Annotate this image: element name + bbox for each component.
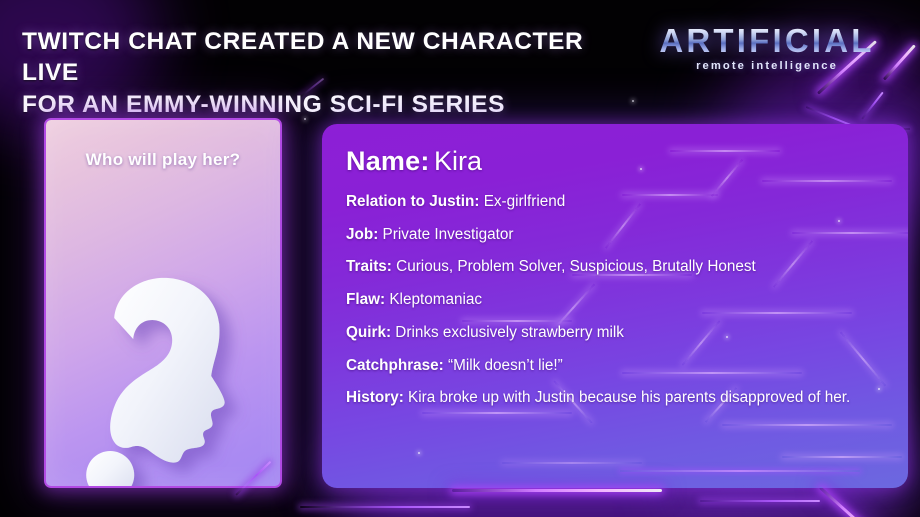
neon-streak (300, 506, 470, 508)
brand-logo: ARTIFICIAL remote intelligence (632, 24, 902, 72)
circuit-line (782, 456, 902, 458)
circuit-line (502, 462, 642, 464)
field-flaw-label: Flaw: (346, 291, 385, 308)
character-info-card: Name: Kira Relation to Justin: Ex-girlfr… (322, 124, 908, 488)
portrait-question: Who will play her? (46, 150, 280, 170)
field-flaw-value: Kleptomaniac (389, 291, 482, 308)
logo-tagline: remote intelligence (632, 60, 902, 72)
field-quirk: Quirk: Drinks exclusively strawberry mil… (346, 322, 888, 344)
field-relation-label: Relation to Justin: (346, 193, 479, 210)
slide-canvas: TWITCH CHAT CREATED A NEW CHARACTER LIVE… (0, 0, 920, 517)
field-job: Job: Private Investigator (346, 224, 888, 246)
field-relation: Relation to Justin: Ex-girlfriend (346, 191, 888, 213)
field-history: History: Kira broke up with Justin becau… (346, 387, 888, 409)
sparkle-dot (418, 452, 420, 454)
neon-streak (452, 489, 662, 492)
question-mark-face-icon (64, 272, 254, 488)
circuit-line (422, 412, 572, 414)
field-name-value: Kira (434, 146, 482, 176)
headline: TWITCH CHAT CREATED A NEW CHARACTER LIVE… (22, 26, 642, 120)
portrait-card: Who will play her? (44, 118, 282, 488)
field-history-value: Kira broke up with Justin because his pa… (408, 389, 850, 406)
field-quirk-label: Quirk: (346, 324, 391, 341)
character-fields: Name: Kira Relation to Justin: Ex-girlfr… (346, 146, 888, 409)
field-catchphrase-value: “Milk doesn’t lie!” (448, 357, 563, 374)
headline-line-2: FOR AN EMMY-WINNING SCI-FI SERIES (22, 89, 642, 120)
field-relation-value: Ex-girlfriend (484, 193, 566, 210)
field-job-value: Private Investigator (383, 226, 514, 243)
headline-line-1: TWITCH CHAT CREATED A NEW CHARACTER LIVE (22, 26, 642, 89)
field-quirk-value: Drinks exclusively strawberry milk (395, 324, 624, 341)
field-name: Name: Kira (346, 146, 888, 177)
field-flaw: Flaw: Kleptomaniac (346, 289, 888, 311)
field-name-label: Name: (346, 146, 430, 176)
neon-streak (700, 500, 820, 502)
field-traits: Traits: Curious, Problem Solver, Suspici… (346, 256, 888, 278)
field-catchphrase: Catchphrase: “Milk doesn’t lie!” (346, 355, 888, 377)
field-job-label: Job: (346, 226, 378, 243)
field-traits-label: Traits: (346, 258, 392, 275)
field-history-label: History: (346, 389, 404, 406)
field-traits-value: Curious, Problem Solver, Suspicious, Bru… (396, 258, 756, 275)
circuit-line (722, 424, 892, 426)
neon-streak (861, 92, 884, 120)
field-catchphrase-label: Catchphrase: (346, 357, 444, 374)
logo-wordmark: ARTIFICIAL (632, 24, 902, 57)
neon-streak (819, 486, 876, 517)
